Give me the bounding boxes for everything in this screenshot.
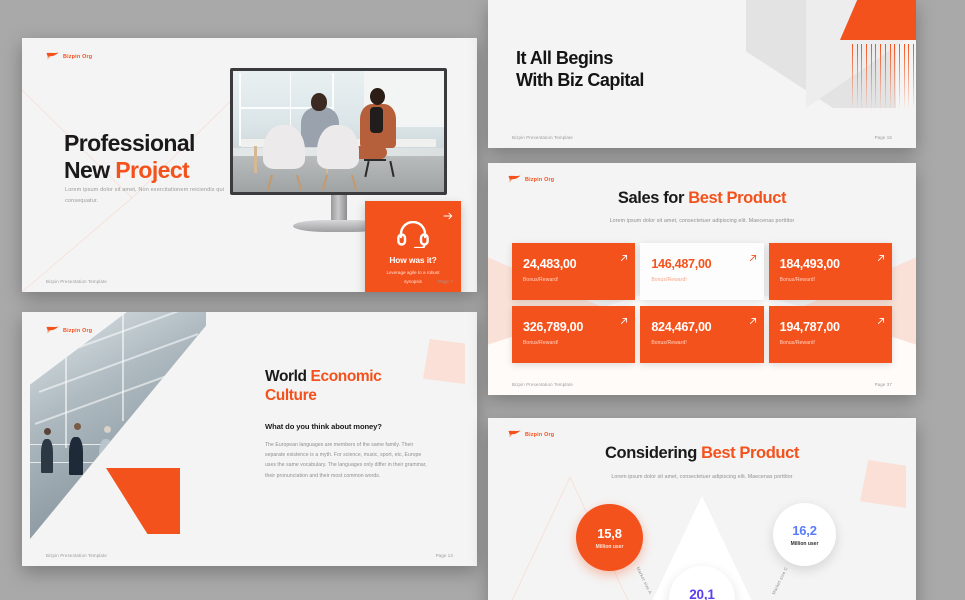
photo-window-frame: [239, 73, 240, 146]
photo-person: [129, 435, 143, 473]
footer-page-number: Page 37: [875, 382, 892, 387]
cta-title: How was it?: [365, 255, 461, 265]
metric-value: 20,1: [689, 587, 714, 600]
brand-name: Bizpin Org: [63, 328, 92, 334]
footer-page-number: Page 13: [436, 553, 453, 558]
stat-label: Bonus/Reward!: [780, 340, 892, 346]
title-accent: Project: [115, 157, 189, 183]
photo-person: [41, 439, 53, 473]
slide-title: Sales for Best Product: [488, 189, 916, 208]
geo-stripe-group: [852, 44, 914, 110]
metric-bubble-market-size-a[interactable]: 15,8 Million user: [576, 504, 643, 571]
stat-value: 146,487,00: [651, 257, 763, 271]
slide-title: World Economic Culture: [265, 368, 381, 406]
title-accent: Best Product: [688, 189, 786, 207]
metric-unit: Million user: [596, 544, 624, 550]
photo-chair: [317, 125, 359, 169]
photo-table-leg: [254, 146, 257, 173]
photo-person-head: [167, 428, 174, 435]
title-line-2: With Biz Capital: [516, 70, 644, 92]
footer-template-label: Bizpin Presentation Template: [46, 553, 107, 558]
photo-person: [69, 437, 83, 475]
photo-person-head: [74, 423, 81, 430]
photo-chair: [263, 125, 305, 169]
slide-title: It All Begins With Biz Capital: [516, 48, 644, 92]
title-plain: New: [64, 157, 115, 183]
slide-subtitle: What do you think about money?: [265, 422, 382, 431]
orange-triangle-accent: [106, 468, 180, 534]
title-line-1: It All Begins: [516, 48, 644, 70]
slide-title: Professional New Project: [64, 130, 195, 184]
brand-logo[interactable]: Bizpin Org: [508, 175, 554, 185]
stat-value: 326,789,00: [523, 320, 635, 334]
metric-unit: Million user: [791, 541, 819, 547]
metric-value: 16,2: [792, 523, 817, 538]
title-accent: Economic: [311, 368, 382, 385]
headset-icon: [397, 221, 429, 248]
geometric-accent-group: [746, 0, 916, 115]
footer-page-number: Page 7: [438, 279, 453, 284]
slide-world-economic-culture[interactable]: Bizpin Org World Economic Culture What d…: [22, 312, 477, 566]
axis-label-market-size-a: Market size A: [636, 566, 654, 595]
brand-logo[interactable]: Bizpin Org: [46, 326, 92, 336]
photo-person-head: [134, 421, 141, 428]
stat-value: 24,483,00: [523, 257, 635, 271]
slide-subtitle: Lorem ipsum dolor sit amet, consectetuer…: [488, 474, 916, 480]
bird-logo-icon: [46, 52, 59, 62]
slide-considering-best-product[interactable]: Bizpin Org Considering Best Product Lore…: [488, 418, 916, 600]
stat-label: Bonus/Reward!: [651, 277, 763, 283]
stat-label: Bonus/Reward!: [780, 277, 892, 283]
title-line-2: New Project: [64, 157, 195, 184]
arrow-up-right-icon[interactable]: [877, 312, 885, 320]
photo-railing: [30, 444, 206, 446]
slide-sales-for-best-product[interactable]: Bizpin Org Sales for Best Product Lorem …: [488, 163, 916, 395]
arrow-up-right-icon[interactable]: [620, 249, 628, 257]
metric-value: 15,8: [597, 526, 622, 541]
slide-body-text: The European languages are members of th…: [265, 440, 433, 481]
arrow-up-right-icon[interactable]: [620, 312, 628, 320]
bird-logo-icon: [46, 326, 59, 336]
stat-value: 194,787,00: [780, 320, 892, 334]
stat-card[interactable]: 184,493,00 Bonus/Reward!: [769, 243, 892, 300]
slide-professional-new-project[interactable]: Bizpin Org Professional New Project Lore…: [22, 38, 477, 292]
bird-logo-icon: [508, 175, 521, 185]
title-line-1: World Economic: [265, 368, 381, 387]
brand-logo[interactable]: Bizpin Org: [508, 430, 554, 440]
brand-name: Bizpin Org: [63, 54, 92, 60]
stat-value: 824,467,00: [651, 320, 763, 334]
stat-card[interactable]: 194,787,00 Bonus/Reward!: [769, 306, 892, 363]
stat-card[interactable]: 326,789,00 Bonus/Reward!: [512, 306, 635, 363]
title-line-1: Professional: [64, 130, 195, 157]
title-plain: Considering: [605, 444, 701, 462]
title-accent: Best Product: [701, 444, 799, 462]
photo-railing: [30, 462, 206, 464]
monitor-bezel: [230, 68, 447, 195]
arrow-up-right-icon[interactable]: [749, 312, 757, 320]
brand-name: Bizpin Org: [525, 177, 554, 183]
metric-bubble-market-size-c[interactable]: 16,2 Million user: [773, 503, 836, 566]
title-line-2: Culture: [265, 387, 381, 406]
monitor-stand-neck: [331, 195, 347, 223]
slide-description: Lorem ipsum dolor sit amet, Non exercita…: [65, 185, 235, 207]
footer-template-label: Bizpin Presentation Template: [46, 279, 107, 284]
slide-title: Considering Best Product: [488, 444, 916, 463]
pale-parallelogram-accent: [860, 460, 906, 508]
photo-person-head: [104, 426, 111, 433]
stat-label: Bonus/Reward!: [523, 340, 635, 346]
stat-value: 184,493,00: [780, 257, 892, 271]
title-plain: World: [265, 368, 311, 385]
stat-label: Bonus/Reward!: [651, 340, 763, 346]
stat-card[interactable]: 824,467,00 Bonus/Reward!: [640, 306, 763, 363]
photo-person-grey-head: [311, 93, 327, 111]
title-plain: Sales for: [618, 189, 688, 207]
photo-person-head: [44, 428, 51, 435]
stat-card[interactable]: 146,487,00 Bonus/Reward!: [640, 243, 763, 300]
slide-it-all-begins[interactable]: It All Begins With Biz Capital Bizpin Pr…: [488, 0, 916, 148]
arrow-up-right-icon[interactable]: [877, 249, 885, 257]
photo-column: [122, 312, 124, 421]
stat-label: Bonus/Reward!: [523, 277, 635, 283]
presentation-preview-board: Bizpin Org Professional New Project Lore…: [0, 0, 965, 600]
stat-card[interactable]: 24,483,00 Bonus/Reward!: [512, 243, 635, 300]
footer-template-label: Bizpin Presentation Template: [512, 382, 573, 387]
brand-name: Bizpin Org: [525, 432, 554, 438]
footer-page-number: Page 15: [875, 135, 892, 140]
arrow-right-icon[interactable]: [443, 208, 453, 218]
arrow-up-right-icon[interactable]: [749, 249, 757, 257]
slide-subtitle: Lorem ipsum dolor sit amet, consectetuer…: [488, 218, 916, 224]
photo-person: [164, 439, 176, 471]
footer-template-label: Bizpin Presentation Template: [512, 135, 573, 140]
photo-person-orange-head: [370, 88, 385, 105]
monitor-screen-photo: [233, 71, 444, 192]
photo-person-orange-shirt: [370, 107, 383, 133]
axis-label-market-size-c: Market size C: [771, 566, 789, 595]
photo-beam: [38, 333, 197, 393]
stat-card-grid: 24,483,00 Bonus/Reward! 146,487,00 Bonus…: [512, 243, 892, 363]
pale-parallelogram-accent: [423, 339, 465, 384]
brand-logo[interactable]: Bizpin Org: [46, 52, 92, 62]
bird-logo-icon: [508, 430, 521, 440]
photo-beam: [35, 365, 194, 425]
